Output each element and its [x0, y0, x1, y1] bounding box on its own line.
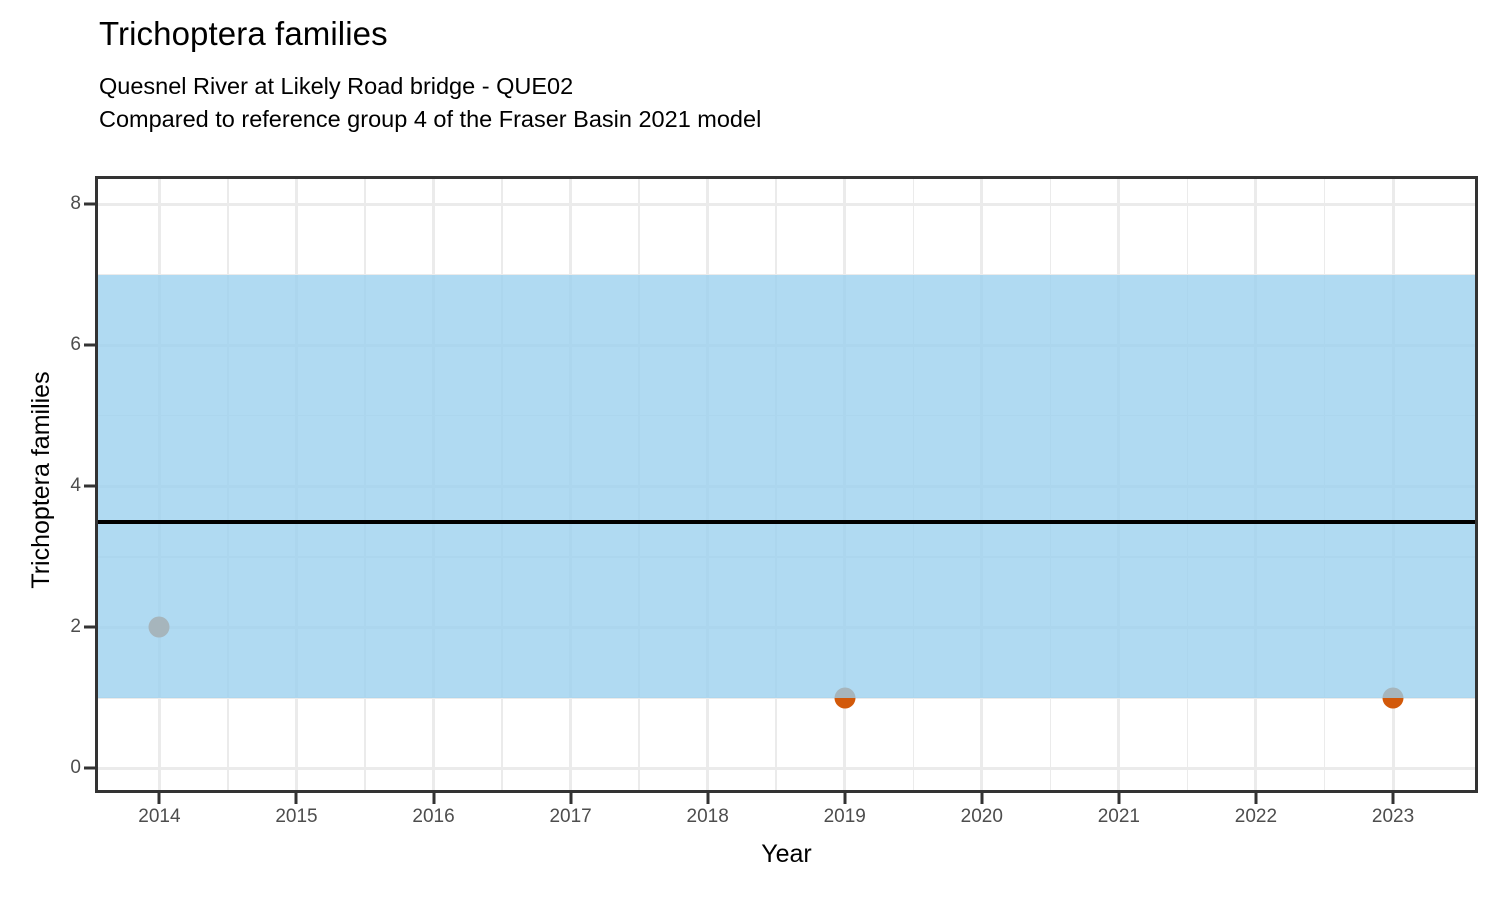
x-tick-label: 2015: [275, 806, 317, 828]
y-tick-label: 0: [70, 757, 81, 779]
y-axis-title: Trichoptera families: [18, 170, 64, 790]
x-tick-label: 2018: [687, 806, 729, 828]
chart-figure: Trichoptera families Quesnel River at Li…: [0, 0, 1500, 900]
x-tick-label: 2023: [1372, 806, 1414, 828]
x-tick-label: 2021: [1098, 806, 1140, 828]
y-tick-mark: [84, 767, 95, 770]
x-tick-label: 2017: [549, 806, 591, 828]
y-tick-mark: [84, 203, 95, 206]
chart-subtitle: Quesnel River at Likely Road bridge - QU…: [99, 54, 1479, 136]
x-tick-label: 2020: [961, 806, 1003, 828]
gridline-major-horizontal: [95, 203, 1478, 206]
y-tick-mark: [84, 626, 95, 629]
x-tick-mark: [569, 793, 572, 804]
y-tick-label: 2: [70, 616, 81, 638]
plot-panel: [95, 176, 1478, 793]
x-tick-mark: [1117, 793, 1120, 804]
reference-band: [95, 275, 1478, 698]
x-tick-label: 2016: [412, 806, 454, 828]
x-tick-mark: [432, 793, 435, 804]
chart-title: Trichoptera families: [99, 14, 1479, 54]
x-tick-mark: [295, 793, 298, 804]
x-tick-label: 2019: [824, 806, 866, 828]
y-tick-mark: [84, 344, 95, 347]
y-tick-mark: [84, 485, 95, 488]
x-tick-label: 2022: [1235, 806, 1277, 828]
x-tick-mark: [1392, 793, 1395, 804]
x-tick-mark: [706, 793, 709, 804]
x-axis-title: Year: [95, 840, 1478, 869]
gridline-major-horizontal: [95, 767, 1478, 770]
y-tick-label: 8: [70, 193, 81, 215]
x-tick-mark: [1254, 793, 1257, 804]
title-block: Trichoptera families Quesnel River at Li…: [99, 14, 1479, 136]
y-tick-label: 6: [70, 334, 81, 356]
x-tick-mark: [980, 793, 983, 804]
x-tick-label: 2014: [138, 806, 180, 828]
x-tick-mark: [158, 793, 161, 804]
y-tick-label: 4: [70, 475, 81, 497]
x-tick-mark: [843, 793, 846, 804]
reference-median-line: [95, 520, 1478, 524]
